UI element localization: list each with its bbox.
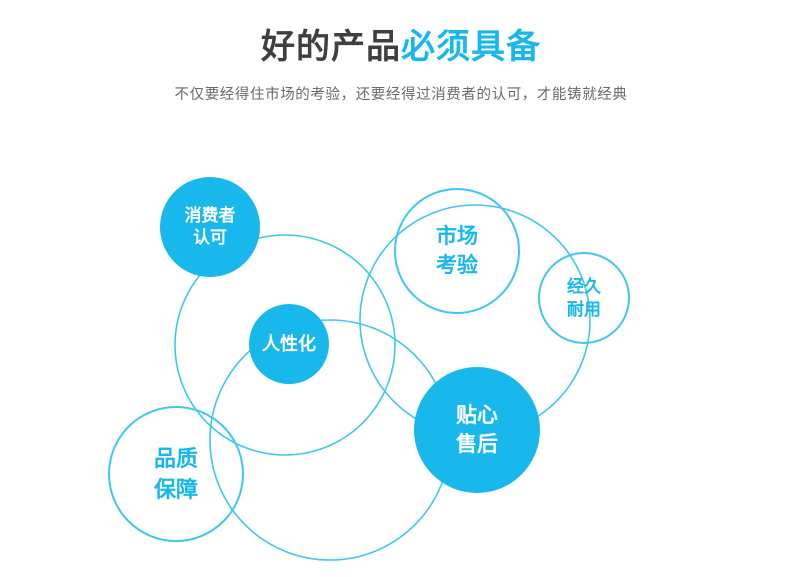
bubble-diagram: 消费者 认可 市场 考验 经久 耐用 人性化 贴心 售后 品质 保障 xyxy=(0,140,802,577)
page-subtitle: 不仅要经得住市场的考验，还要经得过消费者的认可，才能铸就经典 xyxy=(0,70,802,106)
bubble-market-test[interactable]: 市场 考验 xyxy=(394,188,520,314)
page-title-plain: 好的产品 xyxy=(261,28,401,66)
page-title: 好的产品必须具备 xyxy=(0,0,802,70)
bubble-considerate-after-sales-label: 贴心 售后 xyxy=(456,401,498,459)
bubble-durable-label: 经久 耐用 xyxy=(567,275,601,321)
bubble-considerate-after-sales[interactable]: 贴心 售后 xyxy=(414,367,540,493)
bubble-quality-assurance[interactable]: 品质 保障 xyxy=(108,406,244,542)
bubble-humanized-label: 人性化 xyxy=(262,332,316,356)
bubble-durable[interactable]: 经久 耐用 xyxy=(538,252,630,344)
page-title-accent: 必须具备 xyxy=(401,28,541,66)
bubble-quality-assurance-label: 品质 保障 xyxy=(154,443,198,505)
bubble-consumer-approval[interactable]: 消费者 认可 xyxy=(160,177,260,277)
bubble-market-test-label: 市场 考验 xyxy=(436,222,478,280)
page-root: 好的产品必须具备 不仅要经得住市场的考验，还要经得过消费者的认可，才能铸就经典 … xyxy=(0,0,802,577)
bubble-humanized[interactable]: 人性化 xyxy=(249,304,329,384)
page-header: 好的产品必须具备 不仅要经得住市场的考验，还要经得过消费者的认可，才能铸就经典 xyxy=(0,0,802,106)
bubble-consumer-approval-label: 消费者 认可 xyxy=(185,205,236,249)
